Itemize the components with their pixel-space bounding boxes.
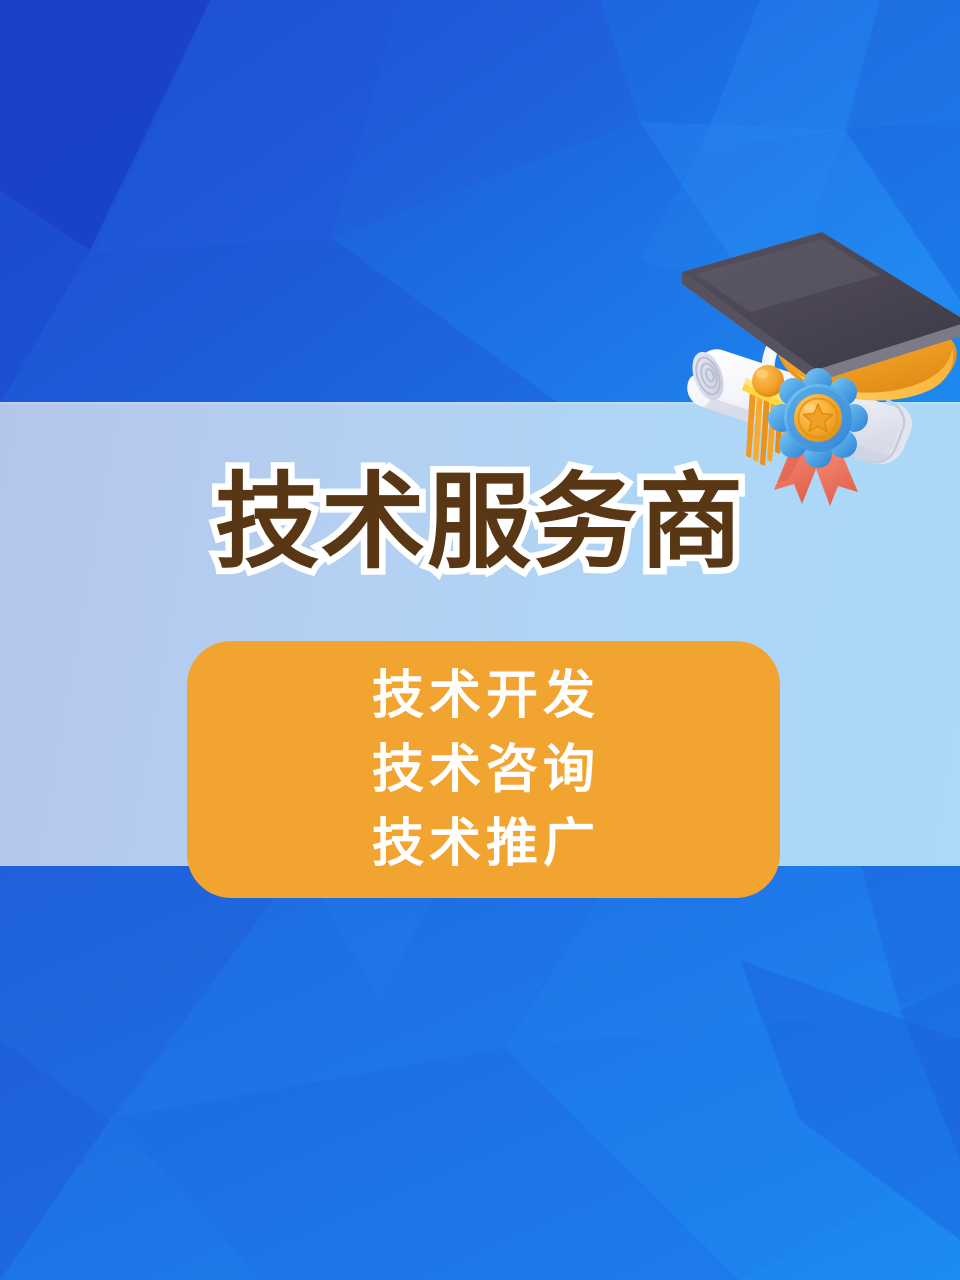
poster-canvas: 技术服务商 技术开发 技术咨询 技术推广 <box>0 0 960 1280</box>
service-item-3: 技术推广 <box>367 807 600 881</box>
service-item-2: 技术咨询 <box>367 733 600 807</box>
poster-title-wrap: 技术服务商 <box>0 464 960 582</box>
services-card[interactable]: 技术开发 技术咨询 技术推广 <box>187 641 780 898</box>
service-item-1: 技术开发 <box>367 659 600 733</box>
page-title: 技术服务商 <box>215 464 745 582</box>
